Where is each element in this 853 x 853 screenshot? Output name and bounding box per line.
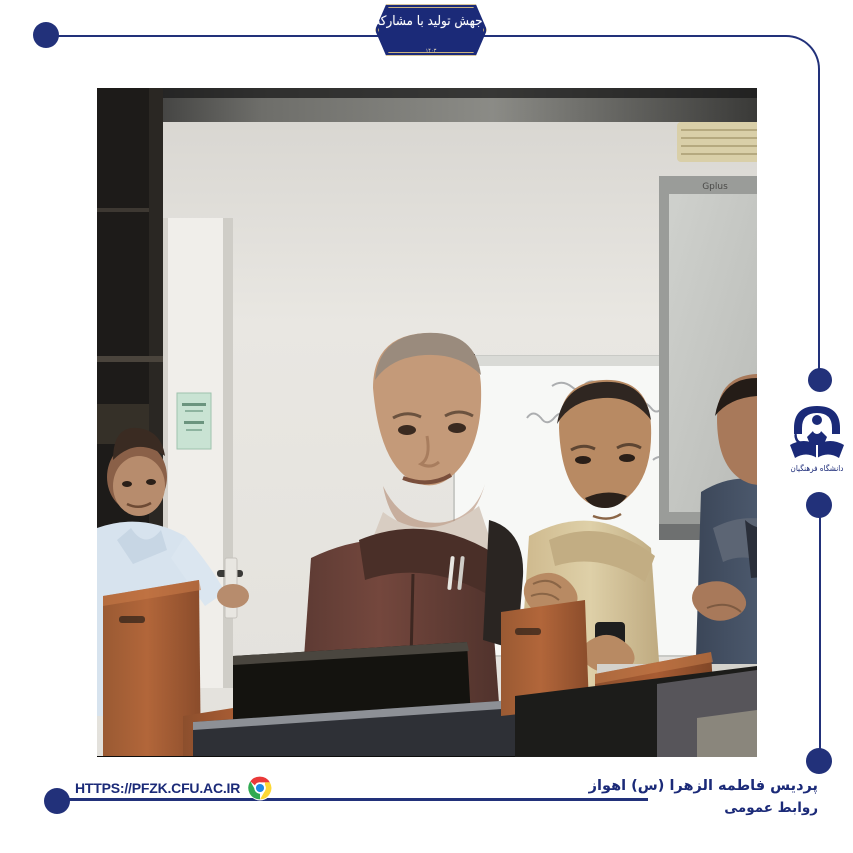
decorative-line-right-lower (819, 505, 821, 760)
poster-canvas: جهش تولید با مشارکت مردم ۱۴۰۳ (0, 0, 853, 853)
farhangian-university-logo: دانشگاه فرهنگیان (786, 398, 848, 490)
footer-organization: پردیس فاطمه الزهرا (س) اهواز روابط عمومی (589, 776, 818, 818)
photo-ceiling-light (677, 122, 757, 162)
university-logo-mark (786, 398, 848, 468)
emblem-slogan-text: جهش تولید با مشارکت مردم (379, 14, 482, 29)
photo-chair-screw-left (119, 616, 145, 623)
photo-window-rail (97, 208, 149, 212)
photo-display-brand: Gplus (702, 182, 728, 192)
photo-window-rail-2 (97, 356, 163, 362)
university-logo-label: دانشگاه فرهنگیان (787, 464, 846, 473)
decorative-dot-right-middle (808, 368, 832, 392)
photo-scene: Gplus (97, 88, 757, 757)
photo-foreground-panel-right-2 (697, 710, 757, 757)
event-photo: Gplus (97, 88, 757, 757)
photo-ceiling-shadow (97, 88, 757, 98)
footer-website[interactable]: HTTPS://PFZK.CFU.AC.IR (75, 775, 273, 801)
chrome-icon (247, 775, 273, 801)
decorative-dot-bottom-left (44, 788, 70, 814)
year-slogan-emblem: جهش تولید با مشارکت مردم ۱۴۰۳ (375, 4, 487, 56)
emblem-year-tag: ۱۴۰۳ (375, 48, 487, 54)
decorative-dot-top-left (33, 22, 59, 48)
website-url-text[interactable]: HTTPS://PFZK.CFU.AC.IR (75, 780, 240, 796)
footer-department-name: روابط عمومی (589, 798, 818, 818)
footer-campus-name: پردیس فاطمه الزهرا (س) اهواز (589, 776, 818, 798)
decorative-dot-right-lower (806, 748, 832, 774)
photo-chair-screw-right (515, 628, 541, 635)
